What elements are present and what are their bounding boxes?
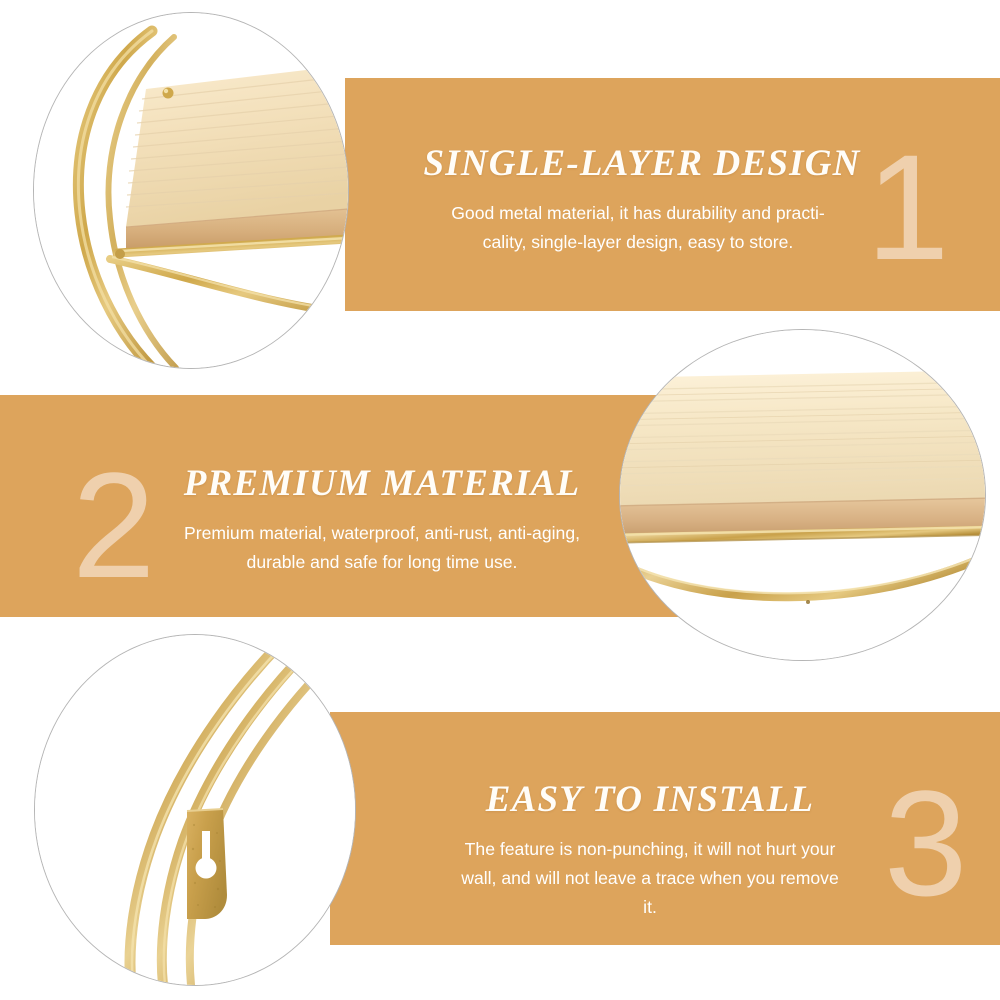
- shelf-board-edge-illustration: [620, 330, 985, 660]
- shelf-corner-illustration: [34, 13, 348, 368]
- infographic-canvas: SINGLE-LAYER DESIGN Good metal material,…: [0, 0, 1000, 1000]
- mounting-bracket-illustration: [35, 635, 355, 985]
- feature-body-line: wall, and will not leave a trace when yo…: [430, 864, 870, 893]
- feature-body-line: durable and safe for long time use.: [152, 548, 612, 577]
- feature-body-1: Good metal material, it has durability a…: [408, 199, 868, 257]
- feature-text-block-2: PREMIUM MATERIAL Premium material, water…: [152, 462, 612, 577]
- feature-body-2: Premium material, waterproof, anti-rust,…: [152, 519, 612, 577]
- feature-numeral-1: 1: [866, 132, 949, 282]
- feature-text-block-1: SINGLE-LAYER DESIGN Good metal material,…: [408, 142, 868, 257]
- feature-numeral-2: 2: [72, 450, 155, 600]
- feature-photo-1: Close-up of gold wire frame and bamboo s…: [34, 13, 348, 368]
- feature-body-line: Good metal material, it has durability a…: [408, 199, 868, 228]
- feature-numeral-3: 3: [884, 768, 967, 918]
- feature-photo-2: Close-up of bamboo shelf board edge rest…: [620, 330, 985, 660]
- feature-title-2: PREMIUM MATERIAL: [152, 462, 612, 505]
- feature-text-block-3: EASY TO INSTALL The feature is non-punch…: [430, 778, 870, 922]
- feature-body-line: The feature is non-punching, it will not…: [430, 835, 870, 864]
- feature-photo-3: Close-up of gold wire rods with keyhole …: [35, 635, 355, 985]
- feature-body-3: The feature is non-punching, it will not…: [430, 835, 870, 922]
- feature-title-1: SINGLE-LAYER DESIGN: [412, 142, 872, 185]
- feature-body-line: cality, single-layer design, easy to sto…: [408, 228, 868, 257]
- feature-title-3: EASY TO INSTALL: [430, 778, 870, 821]
- feature-body-line: Premium material, waterproof, anti-rust,…: [152, 519, 612, 548]
- keyhole-bracket: [187, 809, 227, 919]
- feature-body-line: it.: [430, 893, 870, 922]
